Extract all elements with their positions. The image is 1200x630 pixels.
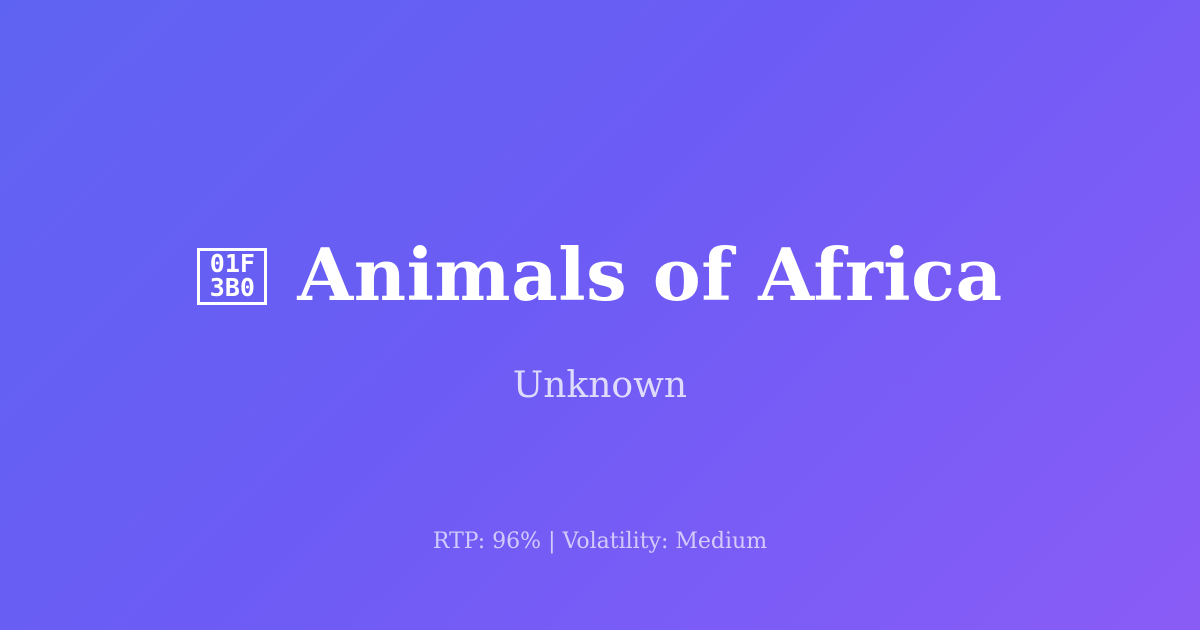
page-subtitle: Unknown (0, 363, 1200, 409)
page-title: Animals of Africa (297, 229, 1002, 321)
slot-machine-emoji-tofu-icon: 01F 3B0 (197, 248, 267, 305)
og-share-card: 01F 3B0 Animals of Africa Unknown RTP: 9… (0, 0, 1200, 630)
title-row: 01F 3B0 Animals of Africa (0, 229, 1200, 321)
tofu-codepoint-bottom: 3B0 (210, 276, 255, 300)
game-meta-footer: RTP: 96% | Volatility: Medium (0, 527, 1200, 557)
